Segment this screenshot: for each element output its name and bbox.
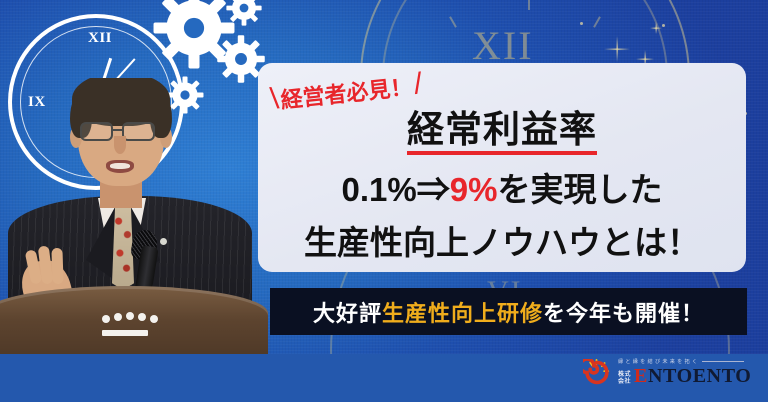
ear-right <box>160 126 172 148</box>
sparkle-dot <box>662 24 665 27</box>
hair <box>72 78 170 126</box>
clock-numeral-xii: XII <box>472 22 534 69</box>
logo-company-name: ENTOENTO <box>634 366 751 386</box>
teeth <box>110 163 130 169</box>
kicker-slash-right: / <box>412 67 424 102</box>
subtitle-post: を今年も開催！ <box>543 301 704 326</box>
subtitle-pre: 大好評 <box>313 301 382 326</box>
logo-tagline-rule <box>702 361 744 362</box>
sun-spiral-icon <box>583 359 610 386</box>
logo-tagline: 縁と縁を結び未来を拓く <box>618 358 699 365</box>
gear-icon <box>164 74 206 116</box>
clock-tick <box>593 16 601 27</box>
logo-name-rest: NTOENTO <box>648 365 752 387</box>
subtitle-bar: 大好評生産性向上研修を今年も開催！ <box>270 288 747 335</box>
glasses-lens-left <box>80 122 113 141</box>
finger <box>38 245 54 284</box>
gear-icon <box>224 0 264 28</box>
sparkle-icon <box>650 22 662 34</box>
clock-icon-white-inner <box>20 26 172 178</box>
head <box>78 82 164 186</box>
lapel-pin <box>160 238 167 245</box>
podium-dot <box>114 313 122 321</box>
glasses-bridge <box>113 129 122 131</box>
logo-company-prefix: 株式 会社 <box>618 372 631 386</box>
gear-icon <box>148 0 240 74</box>
clock-tick <box>528 0 530 10</box>
finger <box>51 248 63 284</box>
headline2-pre: 0.1%⇒ <box>342 171 450 208</box>
logo-tagline-row: 縁と縁を結び未来を拓く <box>618 358 751 365</box>
clock-hand-hour <box>95 58 112 103</box>
headline-line-3: 生産性向上ノウハウとは！ <box>304 216 700 264</box>
podium-dot <box>102 315 110 323</box>
glasses-lens-right <box>122 122 155 141</box>
clock-numeral-ix: IX <box>28 94 46 111</box>
logo-text-block: 縁と縁を結び未来を拓く 株式 会社 ENTOENTO <box>618 358 751 386</box>
clock-numeral-iii: III <box>150 94 169 111</box>
finger <box>25 249 43 285</box>
hair-side-right <box>150 90 172 138</box>
company-logo: 縁と縁を結び未来を拓く 株式 会社 ENTOENTO <box>583 358 751 386</box>
promo-banner: XII VI XII III VI IX <box>0 0 768 402</box>
sparkle-dot <box>580 22 583 25</box>
nose <box>114 136 126 154</box>
shirt <box>98 198 146 268</box>
logo-name-row: 株式 会社 ENTOENTO <box>618 366 751 386</box>
podium-dot <box>126 312 134 320</box>
lapel-left <box>86 198 120 284</box>
subtitle-highlight: 生産性向上研修 <box>382 301 543 326</box>
subtitle-text: 大好評生産性向上研修を今年も開催！ <box>313 296 704 328</box>
headline-line-2: 0.1%⇒9%を実現した <box>342 163 663 211</box>
kicker-badge: \ 経営者必見！ / <box>269 67 424 117</box>
headline2-highlight: 9% <box>450 171 498 208</box>
ear-left <box>70 126 82 148</box>
clock-numeral-vi: VI <box>90 156 108 173</box>
kicker-text: 経営者必見！ <box>279 69 414 115</box>
headline2-post: を実現した <box>497 171 662 208</box>
lapel-right <box>126 198 160 284</box>
logo-initial: E <box>634 365 648 387</box>
neck <box>100 178 142 208</box>
podium-plate <box>102 330 148 336</box>
headline-line-1: 経常利益率 <box>407 109 597 155</box>
sparkle-icon <box>604 36 630 62</box>
clock-numeral-xii: XII <box>88 30 112 47</box>
eyebrow-right <box>125 116 153 120</box>
podium-dot <box>150 315 158 323</box>
clock-icon-white <box>8 14 184 190</box>
microphone-head <box>130 228 159 262</box>
clock-hand-minute <box>95 58 135 102</box>
podium-dot <box>138 313 146 321</box>
mouth <box>106 160 134 173</box>
hair-side-left <box>70 90 92 138</box>
eyebrow-left <box>83 116 111 120</box>
headline-card: \ 経営者必見！ / 経常利益率 0.1%⇒9%を実現した 生産性向上ノウハウと… <box>258 63 746 272</box>
necktie <box>112 206 134 290</box>
clock-tick <box>449 16 457 27</box>
